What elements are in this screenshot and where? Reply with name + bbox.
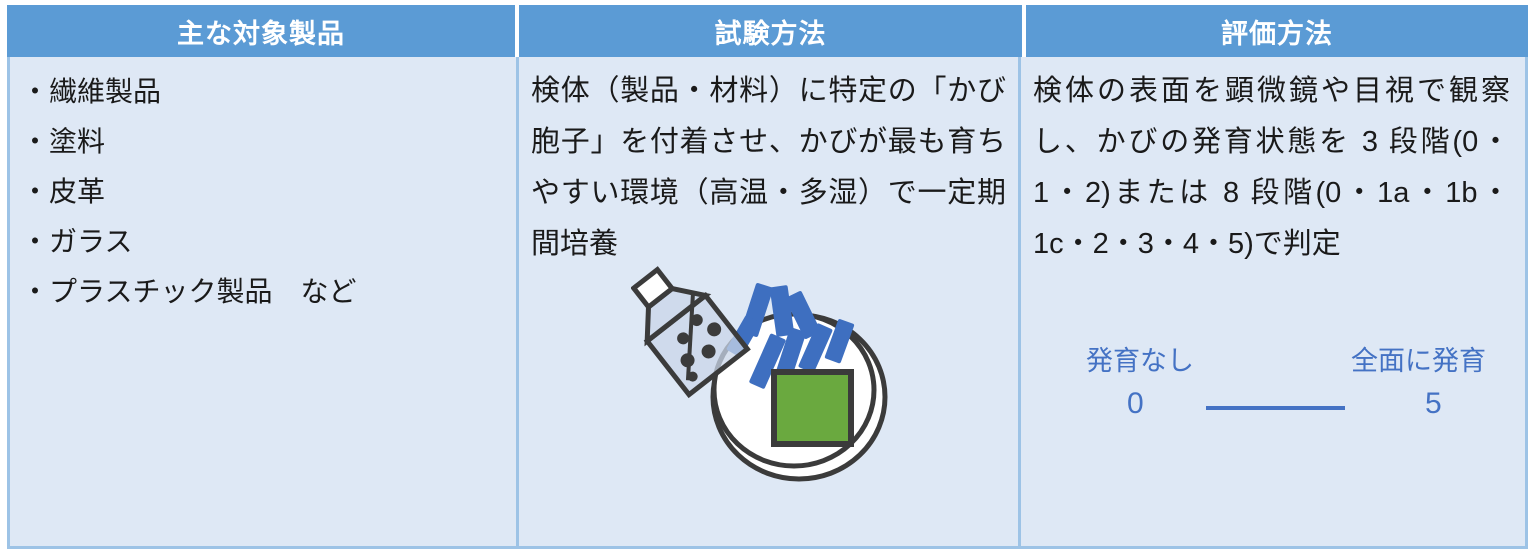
cell-target-products: ・繊維製品 ・塗料 ・皮革 ・ガラス ・プラスチック製品 など bbox=[10, 57, 516, 546]
petri-dish-spore-inoculation-icon bbox=[631, 262, 921, 492]
column-header-evaluation-method: 評価方法 bbox=[1026, 5, 1528, 57]
scale-label-full-growth: 全面に発育 bbox=[1351, 339, 1486, 378]
list-item: ・ガラス bbox=[21, 217, 516, 267]
scale-value-max: 5 bbox=[1425, 387, 1442, 421]
column-header-target-products: 主な対象製品 bbox=[7, 5, 515, 57]
evaluation-method-description: 検体の表面を顕微鏡や目視で観察し、かびの発育状態を 3 段階(0・1・2)または… bbox=[1021, 57, 1522, 270]
scale-connector-line bbox=[1206, 406, 1345, 410]
table-header-row: 主な対象製品 試験方法 評価方法 bbox=[7, 5, 1528, 57]
scale-value-min: 0 bbox=[1127, 387, 1144, 421]
column-header-test-method: 試験方法 bbox=[519, 5, 1022, 57]
table-body-row: ・繊維製品 ・塗料 ・皮革 ・ガラス ・プラスチック製品 など 検体（製品・材料… bbox=[7, 57, 1528, 549]
target-product-list: ・繊維製品 ・塗料 ・皮革 ・ガラス ・プラスチック製品 など bbox=[10, 57, 516, 317]
list-item: ・プラスチック製品 など bbox=[21, 267, 516, 317]
comparison-table: 主な対象製品 試験方法 評価方法 ・繊維製品 ・塗料 ・皮革 ・ガラス ・プラス… bbox=[0, 0, 1535, 557]
scale-label-no-growth: 発育なし bbox=[1086, 339, 1194, 378]
list-item: ・皮革 bbox=[21, 167, 516, 217]
cell-evaluation-method: 検体の表面を顕微鏡や目視で観察し、かびの発育状態を 3 段階(0・1・2)または… bbox=[1021, 57, 1522, 546]
list-item: ・繊維製品 bbox=[21, 67, 516, 117]
cell-test-method: 検体（製品・材料）に特定の「かび胞子」を付着させ、かびが最も育ちやすい環境（高温… bbox=[516, 57, 1021, 546]
test-method-description: 検体（製品・材料）に特定の「かび胞子」を付着させ、かびが最も育ちやすい環境（高温… bbox=[519, 57, 1018, 270]
list-item: ・塗料 bbox=[21, 117, 516, 167]
mold-growth-rating-scale: 発育なし 全面に発育 0 5 bbox=[1051, 339, 1491, 439]
